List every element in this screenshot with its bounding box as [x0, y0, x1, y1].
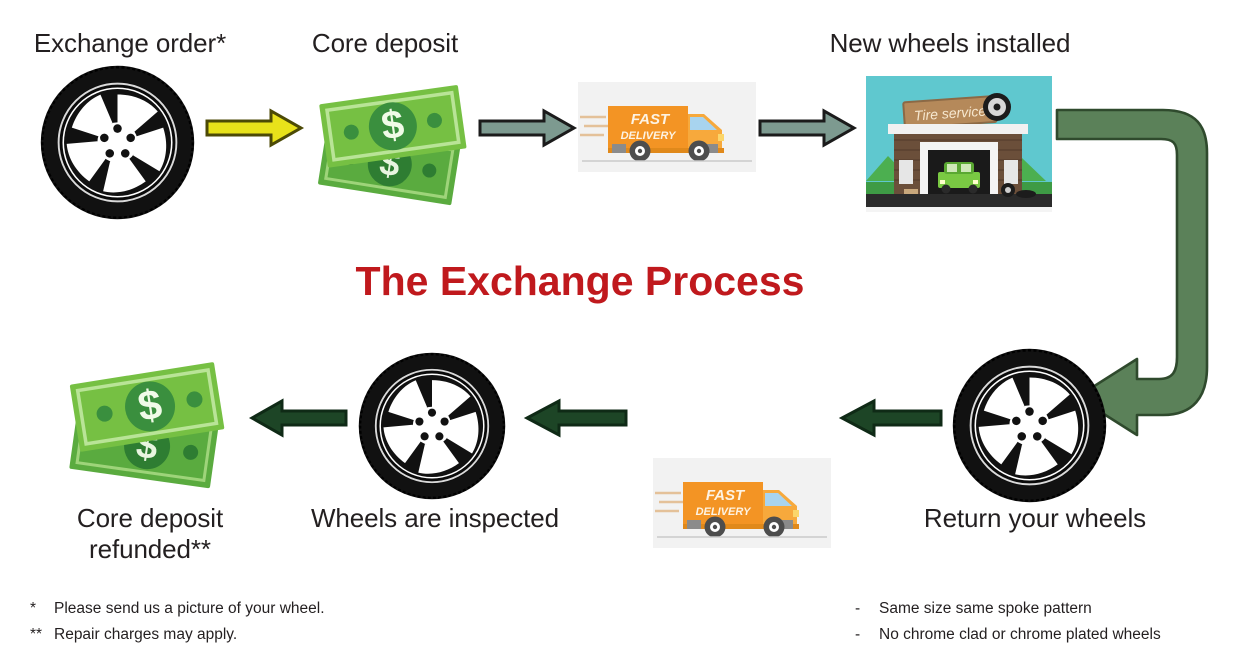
footnotes-left: *Please send us a picture of your wheel.… — [30, 596, 325, 647]
arrow-5-green-left — [523, 398, 628, 438]
arrow-6-green-left — [838, 398, 943, 438]
footnote-mark: ** — [30, 622, 54, 648]
page-title: The Exchange Process — [0, 258, 1160, 305]
truck-text-delivery: DELIVERY — [621, 130, 677, 142]
footnote-text: No chrome clad or chrome plated wheels — [879, 626, 1161, 643]
footnote-item: -Same size same spoke pattern — [855, 596, 1161, 622]
step-label-core-deposit: Core deposit — [285, 28, 485, 59]
exchange-process-diagram: Exchange order* Core deposit New wheels … — [0, 0, 1250, 666]
step-label-wheels-are-inspected: Wheels are inspected — [300, 503, 570, 534]
truck-text-fast: FAST — [631, 111, 671, 128]
footnote-mark: * — [30, 596, 54, 622]
footnote-text: Repair charges may apply. — [54, 626, 237, 643]
footnotes-right: -Same size same spoke pattern -No chrome… — [855, 596, 1161, 647]
step-label-new-wheels-installed: New wheels installed — [800, 28, 1100, 59]
step-label-core-deposit-refunded: Core deposit refunded** — [20, 503, 280, 564]
wheel-icon — [952, 348, 1107, 503]
arrow-1-yellow-right — [205, 108, 305, 148]
cash-icon: $ $ — [305, 72, 480, 202]
footnote-text: Same size same spoke pattern — [879, 600, 1092, 617]
step-label-line2: refunded** — [20, 534, 280, 565]
arrow-4-green-left — [248, 398, 348, 438]
footnote-item: *Please send us a picture of your wheel. — [30, 596, 325, 622]
footnote-item: -No chrome clad or chrome plated wheels — [855, 622, 1161, 648]
arrow-3-sage-right — [758, 108, 858, 148]
arrow-2-sage-right — [478, 108, 578, 148]
step-label-exchange-order: Exchange order* — [0, 28, 260, 59]
step-label-line1: Core deposit — [20, 503, 280, 534]
wheel-icon — [40, 65, 195, 220]
truck-text-fast: FAST — [706, 487, 746, 504]
wheel-icon — [358, 352, 506, 500]
footnote-mark: - — [855, 596, 879, 622]
truck-text-delivery: DELIVERY — [696, 506, 752, 518]
footnote-mark: - — [855, 622, 879, 648]
step-label-return-your-wheels: Return your wheels — [900, 503, 1170, 534]
footnote-item: **Repair charges may apply. — [30, 622, 325, 648]
cash-icon: $ $ — [58, 348, 243, 488]
delivery-truck-icon: FAST DELIVERY — [578, 82, 756, 172]
delivery-truck-icon: FAST DELIVERY — [653, 458, 831, 548]
footnote-text: Please send us a picture of your wheel. — [54, 600, 325, 617]
tire-service-shop-icon: Tire service — [866, 76, 1052, 212]
